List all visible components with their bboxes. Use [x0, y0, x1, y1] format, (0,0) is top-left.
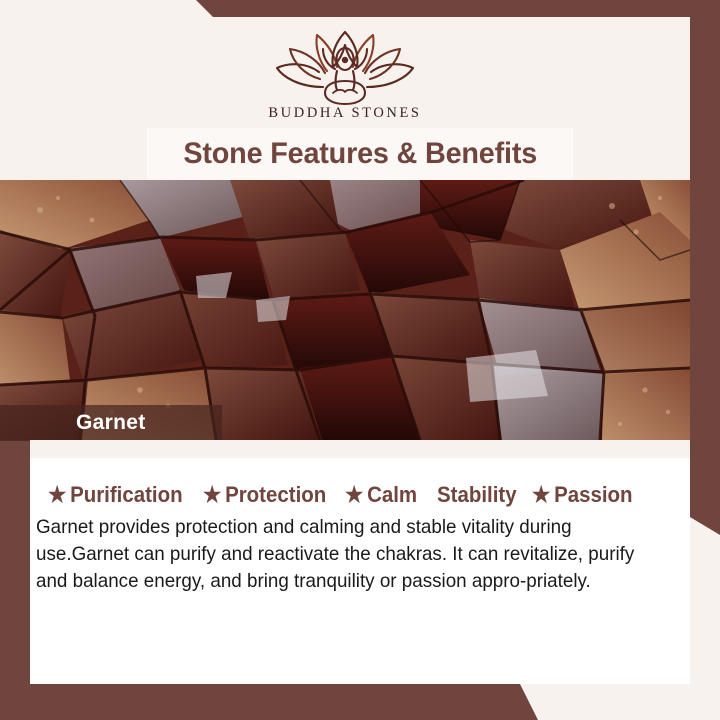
- star-icon: ★: [345, 484, 363, 506]
- benefit-item-passion: ★ Passion: [532, 482, 633, 508]
- lotus-meditation-icon: [265, 29, 425, 107]
- right-accent-bar: [690, 0, 720, 535]
- infographic-page: BUDDHA STONES Stone Features & Benefits: [0, 0, 720, 720]
- benefit-item-purification: ★ Purification: [48, 482, 183, 508]
- benefit-label: Calm: [367, 482, 417, 508]
- benefit-label: Stability: [437, 482, 517, 508]
- brand-name: BUDDHA STONES: [268, 105, 421, 122]
- top-accent-bar: [0, 0, 720, 17]
- star-icon: ★: [203, 484, 221, 506]
- benefit-item-stability: Stability: [437, 482, 517, 508]
- star-icon: ★: [48, 484, 66, 506]
- garnet-crystal-cluster-photo: [0, 180, 690, 440]
- star-icon: ★: [532, 484, 550, 506]
- benefit-label: Protection: [225, 482, 326, 508]
- benefit-item-calm: ★ Calm: [345, 482, 417, 508]
- benefits-list: ★ Purification ★ Protection ★ Calm Stabi…: [48, 482, 684, 508]
- panel-top-edge: [30, 440, 690, 458]
- content-panel: ★ Purification ★ Protection ★ Calm Stabi…: [30, 440, 690, 684]
- stone-name: Garnet: [76, 411, 146, 435]
- benefit-label: Purification: [70, 482, 183, 508]
- stone-name-badge: Garnet: [0, 405, 222, 441]
- stone-description: Garnet provides protection and calming a…: [36, 514, 661, 595]
- left-accent-bar: [0, 440, 30, 720]
- page-title-plate: Stone Features & Benefits: [147, 128, 573, 180]
- benefit-label: Passion: [554, 482, 632, 508]
- benefit-item-protection: ★ Protection: [203, 482, 326, 508]
- page-title: Stone Features & Benefits: [183, 137, 537, 171]
- bottom-accent-bar: [0, 684, 720, 720]
